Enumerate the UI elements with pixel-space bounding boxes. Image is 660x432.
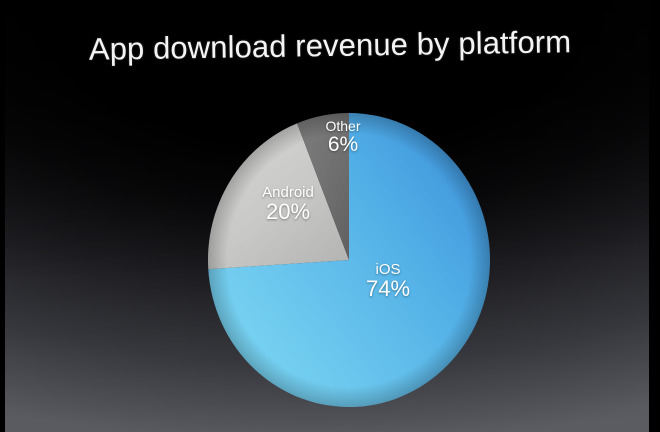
pie-chart	[208, 113, 490, 407]
pie-chart-svg	[208, 113, 490, 407]
pie-edge-shading	[208, 113, 490, 407]
letterbox-bar-right	[649, 0, 660, 432]
presentation-slide: App download revenue by platform	[0, 0, 660, 432]
